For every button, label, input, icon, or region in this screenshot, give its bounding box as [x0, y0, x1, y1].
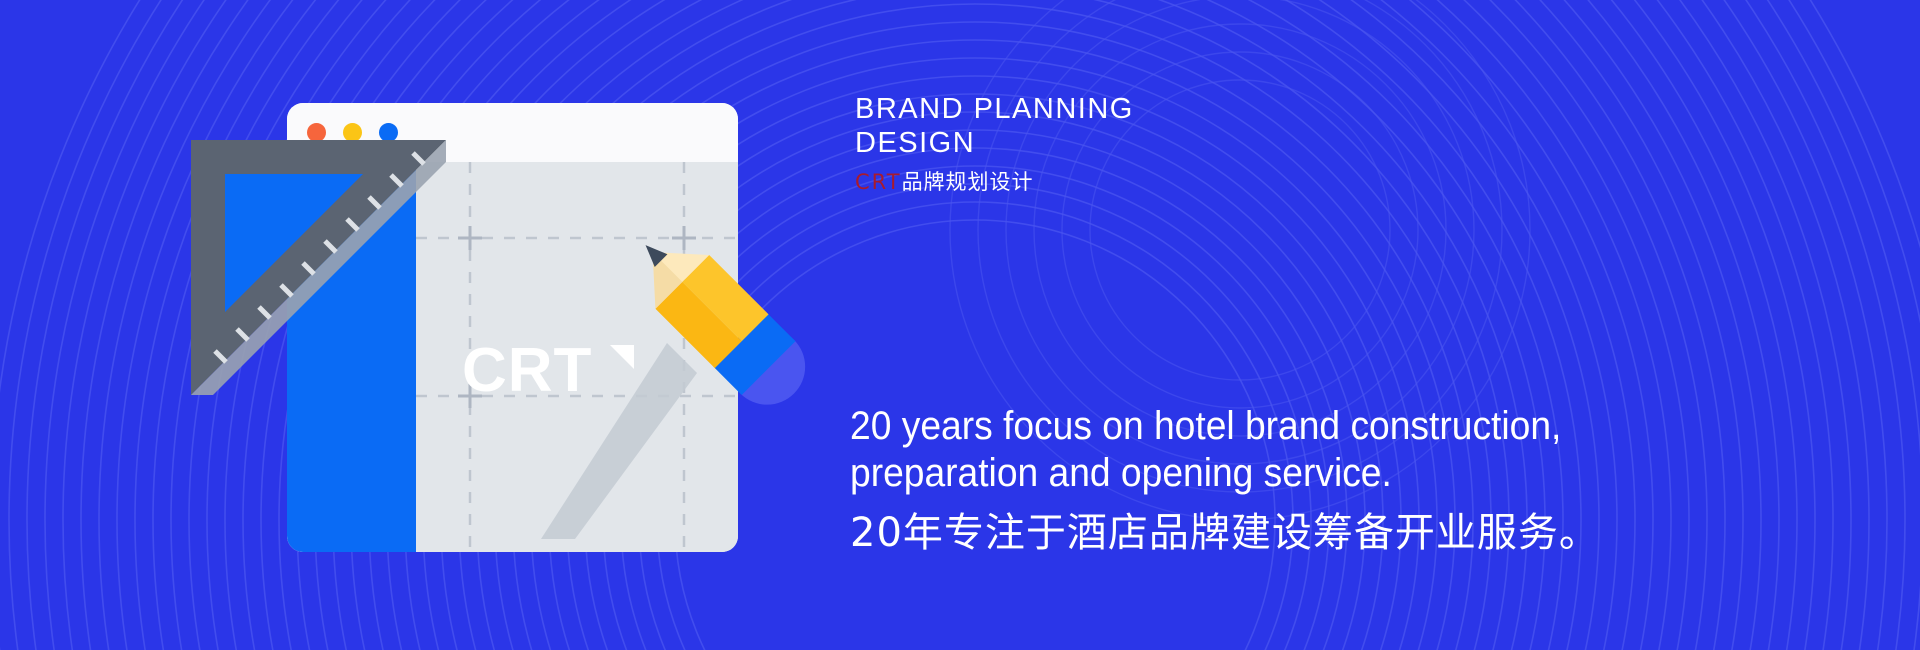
tagline-block: 20 years focus on hotel brand constructi… [850, 403, 1750, 557]
heading-english: BRAND PLANNING DESIGN [855, 92, 1555, 160]
maximize-dot-icon [379, 123, 398, 142]
heading-block: BRAND PLANNING DESIGN CRT品牌规划设计 [855, 92, 1555, 196]
minimize-dot-icon [343, 123, 362, 142]
heading-chinese-text: 品牌规划设计 [902, 170, 1034, 194]
browser-window-card: CRT [287, 103, 738, 552]
tagline-chinese: 20年专注于酒店品牌建设筹备开业服务。 [850, 509, 1750, 557]
close-dot-icon [307, 123, 326, 142]
brand-banner: CRT [0, 0, 1920, 650]
heading-brand-mark: CRT [855, 170, 902, 194]
sidebar-panel [287, 162, 416, 552]
tagline-english: 20 years focus on hotel brand constructi… [850, 403, 1687, 497]
window-titlebar [287, 103, 738, 162]
heading-chinese: CRT品牌规划设计 [855, 166, 1555, 196]
brand-design-illustration: CRT [287, 103, 738, 552]
pencil-shadow [517, 343, 697, 552]
